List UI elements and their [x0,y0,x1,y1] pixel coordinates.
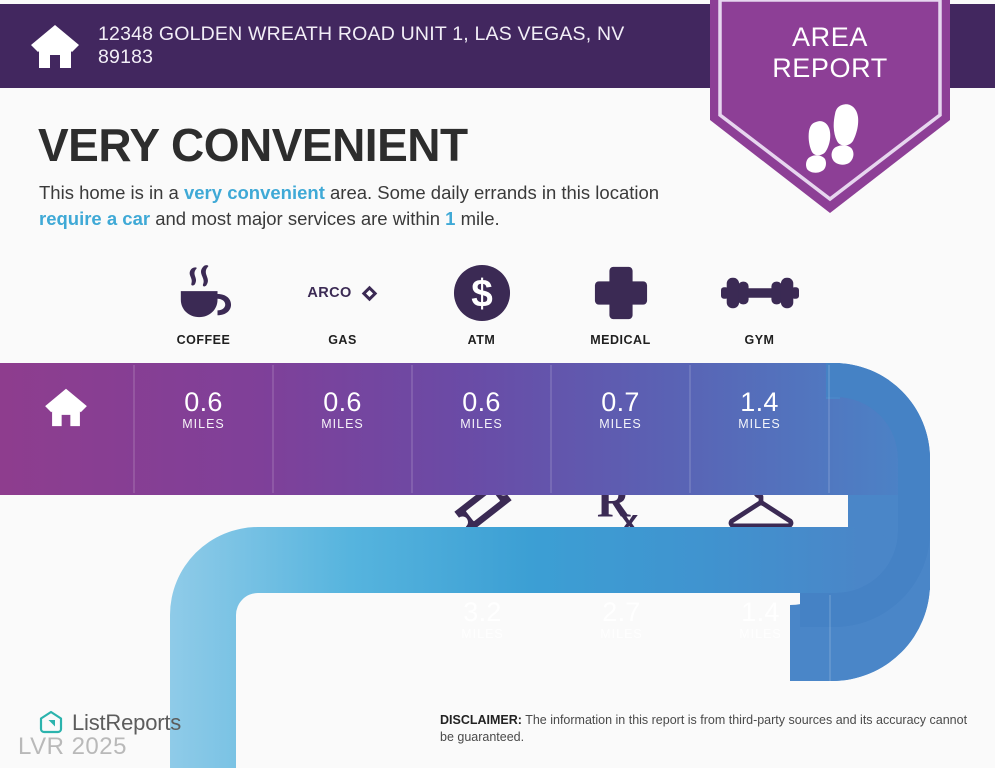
disclaimer-label: DISCLAIMER: [440,713,522,727]
medical-cross-icon [593,262,649,324]
area-report-badge: AREA REPORT [710,0,950,213]
distance-ribbon [0,355,995,768]
badge-shape [710,0,950,213]
dollar-circle-icon: $ [453,262,511,324]
description-text: This home is in a [39,182,184,203]
arco-diamond-icon [361,285,378,302]
amenity-gym: GYM [690,262,829,347]
watermark: LVR 2025 [18,733,127,761]
arco-gas-icon: ARCO [307,262,377,324]
description-text: mile. [455,208,499,229]
property-address: 12348 GOLDEN WREATH ROAD UNIT 1, LAS VEG… [98,23,658,69]
svg-text:$: $ [471,273,493,316]
description-highlight: 1 [445,208,455,229]
amenity-label: GAS [328,333,357,347]
amenity-medical: MEDICAL [551,262,690,347]
disclaimer: DISCLAIMER: The information in this repo… [440,712,970,746]
description-highlight: very convenient [184,182,325,203]
home-marker-icon [44,387,88,427]
amenity-gas: ARCO GAS [273,262,412,347]
area-report-page: 12348 GOLDEN WREATH ROAD UNIT 1, LAS VEG… [0,0,995,768]
house-icon [30,23,80,69]
amenity-label: COFFEE [177,333,231,347]
page-title: VERY CONVENIENT [38,118,468,172]
amenity-label: ATM [468,333,496,347]
description-highlight: require a car [39,208,150,229]
header-content: 12348 GOLDEN WREATH ROAD UNIT 1, LAS VEG… [0,4,718,88]
amenity-atm: $ ATM [412,262,551,347]
amenity-label: GYM [745,333,775,347]
page-description: This home is in a very convenient area. … [39,180,704,232]
description-text: area. Some daily errands in this locatio… [325,182,659,203]
description-text: and most major services are within [150,208,445,229]
amenity-label: MEDICAL [590,333,650,347]
dumbbell-icon [721,262,799,324]
arco-brand-text: ARCO [307,285,351,301]
coffee-cup-icon [173,262,235,324]
amenity-icon-row-one: COFFEE ARCO GAS $ ATM [134,262,829,347]
amenity-coffee: COFFEE [134,262,273,347]
